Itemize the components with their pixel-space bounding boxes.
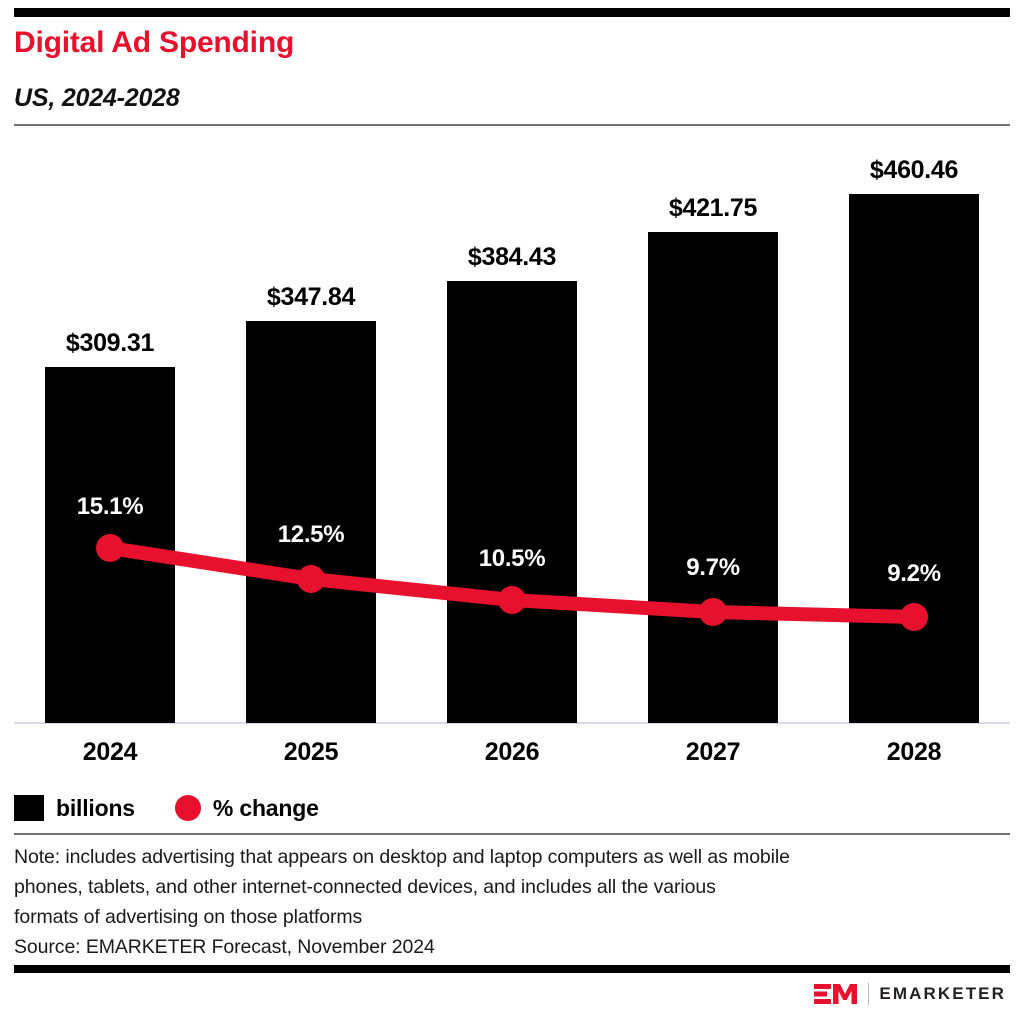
emarketer-logo-icon — [814, 982, 858, 1006]
source-line: Source: EMARKETER Forecast, November 202… — [14, 932, 994, 962]
legend-label-percent-change: % change — [213, 795, 319, 822]
note-line-2: phones, tablets, and other internet-conn… — [14, 872, 994, 902]
percent-label-2028: 9.2% — [844, 560, 984, 588]
percent-change-marker-2028 — [900, 603, 928, 631]
percent-label-2025: 12.5% — [241, 521, 381, 549]
legend-square-icon — [14, 795, 44, 821]
chart-page: Digital Ad Spending US, 2024-2028 $309.3… — [0, 0, 1020, 1016]
chart-notes: Note: includes advertising that appears … — [14, 842, 994, 962]
legend-item-percent-change: % change — [175, 795, 319, 822]
chart-legend: billions % change — [14, 792, 359, 824]
percent-label-2024: 15.1% — [40, 493, 180, 521]
x-axis-label-2025: 2025 — [241, 738, 381, 767]
x-axis-label-2027: 2027 — [643, 738, 783, 767]
percent-change-marker-2024 — [96, 534, 124, 562]
legend-item-billions: billions — [14, 795, 135, 822]
x-axis-label-2026: 2026 — [442, 738, 582, 767]
note-line-1: Note: includes advertising that appears … — [14, 842, 994, 872]
legend-label-billions: billions — [56, 795, 135, 822]
brand-divider — [868, 983, 869, 1005]
percent-change-marker-2026 — [498, 586, 526, 614]
brand-wordmark: EMARKETER — [879, 984, 1006, 1004]
legend-circle-icon — [175, 795, 201, 821]
percent-label-2027: 9.7% — [643, 554, 783, 582]
x-axis-label-2024: 2024 — [40, 738, 180, 767]
percent-change-marker-2027 — [699, 598, 727, 626]
brand-footer: EMARKETER — [814, 980, 1006, 1008]
x-axis-label-2028: 2028 — [844, 738, 984, 767]
percent-label-2026: 10.5% — [442, 545, 582, 573]
percent-change-marker-2025 — [297, 565, 325, 593]
footer-divider — [14, 833, 1010, 835]
note-line-3: formats of advertising on those platform… — [14, 902, 994, 932]
bottom-rule — [14, 965, 1010, 973]
